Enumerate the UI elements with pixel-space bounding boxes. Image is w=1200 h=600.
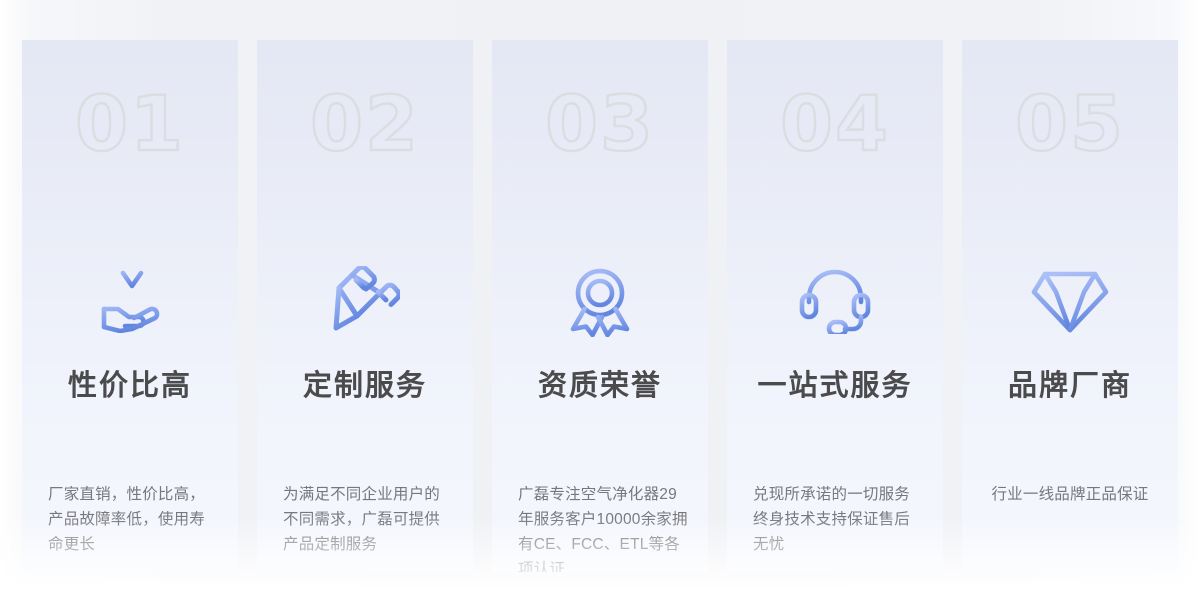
- feature-card[interactable]: 01: [22, 40, 238, 572]
- diamond-icon: [962, 262, 1178, 340]
- card-description: 广磊专注空气净化器29年服务客户10000余家拥有CE、FCC、ETL等各项认证: [518, 482, 690, 572]
- feature-card-list: 01: [22, 40, 1178, 572]
- hand-holding-yuan-icon: [22, 262, 238, 340]
- award-ribbon-icon: [492, 262, 708, 340]
- card-number-badge: 02: [257, 86, 473, 162]
- feature-card[interactable]: 02: [257, 40, 473, 572]
- feature-card[interactable]: 04: [727, 40, 943, 572]
- card-title: 定制服务: [257, 362, 473, 404]
- card-title: 品牌厂商: [962, 362, 1178, 404]
- card-number-badge: 05: [962, 86, 1178, 162]
- feature-card[interactable]: 05 品牌厂商 行业一线品牌正品保证: [962, 40, 1178, 572]
- card-description: 兑现所承诺的一切服务终身技术支持保证售后无忧: [753, 482, 925, 557]
- card-title: 资质荣誉: [492, 362, 708, 404]
- card-number-badge: 04: [727, 86, 943, 162]
- card-number-badge: 03: [492, 86, 708, 162]
- card-description: 厂家直销，性价比高，产品故障率低，使用寿命更长: [48, 482, 220, 557]
- card-title: 一站式服务: [727, 362, 943, 404]
- card-description: 行业一线品牌正品保证: [976, 482, 1164, 507]
- card-description: 为满足不同企业用户的不同需求，广磊可提供产品定制服务: [283, 482, 455, 557]
- feature-highlights-banner: 01: [0, 0, 1200, 600]
- crossed-pencils-icon: [257, 262, 473, 340]
- card-number-badge: 01: [22, 86, 238, 162]
- headset-icon: [727, 262, 943, 340]
- feature-card[interactable]: 03 资质荣誉 广磊专注空气净化器29: [492, 40, 708, 572]
- card-title: 性价比高: [22, 362, 238, 404]
